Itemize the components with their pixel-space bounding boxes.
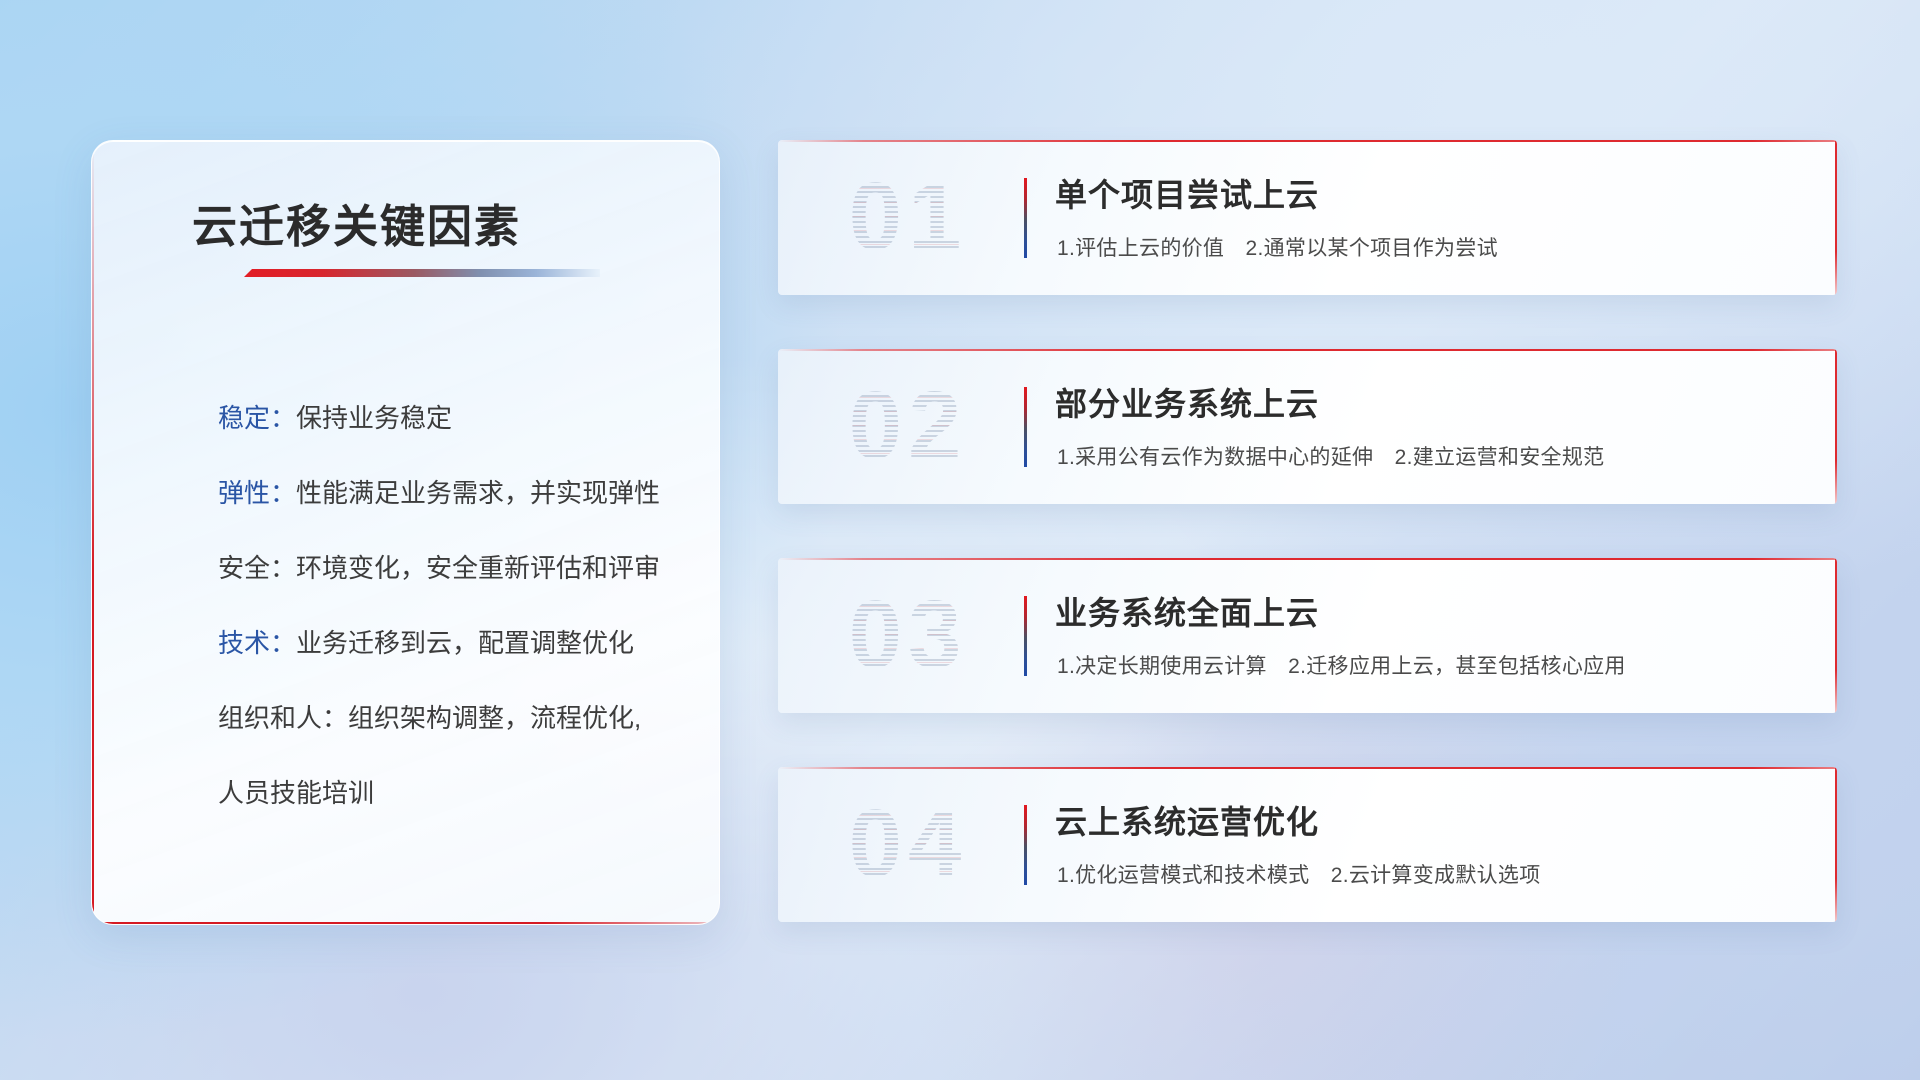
step-right-accent [1835, 349, 1837, 504]
list-item-key: 组织和人： [218, 703, 348, 733]
step-title: 云上系统运营优化 [1055, 797, 1319, 843]
step-right-accent [1835, 558, 1837, 713]
step-top-accent [778, 558, 1837, 560]
list-item-key: 安全： [218, 553, 296, 583]
list-item-value: 性能满足业务需求，并实现弹性 [296, 478, 660, 508]
step-card-02[interactable]: 02 部分业务系统上云 1.采用公有云作为数据中心的延伸 2.建立运营和安全规范 [778, 349, 1837, 504]
key-factors-card: 云迁移关键因素 稳定：保持业务稳定 弹性：性能满足业务需求，并实现弹性 安全：环… [91, 140, 720, 925]
step-card-01[interactable]: 01 单个项目尝试上云 1.评估上云的价值 2.通常以某个项目作为尝试 [778, 140, 1837, 295]
step-number-ghost: 01 [808, 146, 1008, 288]
step-divider-bar [1024, 178, 1027, 258]
list-item: 安全：环境变化，安全重新评估和评审 [218, 531, 688, 606]
step-description: 1.采用公有云作为数据中心的延伸 2.建立运营和安全规范 [1057, 441, 1604, 471]
step-number-ghost: 04 [808, 773, 1008, 915]
list-item-key: 弹性： [218, 478, 296, 508]
step-divider-bar [1024, 387, 1027, 467]
title-underline-gradient [244, 269, 600, 277]
list-item: 弹性：性能满足业务需求，并实现弹性 [218, 456, 688, 531]
list-item: 组织和人：组织架构调整，流程优化, [218, 681, 688, 756]
list-item: 人员技能培训 [218, 756, 688, 831]
list-item: 技术：业务迁移到云，配置调整优化 [218, 606, 688, 681]
step-title: 单个项目尝试上云 [1055, 170, 1319, 216]
step-top-accent [778, 349, 1837, 351]
step-divider-bar [1024, 805, 1027, 885]
list-item: 稳定：保持业务稳定 [218, 381, 688, 456]
card-bottom-accent [92, 922, 719, 924]
list-item-value: 人员技能培训 [218, 778, 374, 808]
step-description: 1.优化运营模式和技术模式 2.云计算变成默认选项 [1057, 859, 1541, 889]
step-top-accent [778, 140, 1837, 142]
step-divider-bar [1024, 596, 1027, 676]
step-right-accent [1835, 767, 1837, 922]
key-factors-list: 稳定：保持业务稳定 弹性：性能满足业务需求，并实现弹性 安全：环境变化，安全重新… [218, 381, 688, 831]
step-number-ghost: 02 [808, 355, 1008, 497]
step-title: 部分业务系统上云 [1055, 379, 1319, 425]
step-card-03[interactable]: 03 业务系统全面上云 1.决定长期使用云计算 2.迁移应用上云，甚至包括核心应… [778, 558, 1837, 713]
list-item-value: 业务迁移到云，配置调整优化 [296, 628, 634, 658]
list-item-value: 环境变化，安全重新评估和评审 [296, 553, 660, 583]
page-title: 云迁移关键因素 [192, 190, 521, 255]
list-item-value: 保持业务稳定 [296, 403, 452, 433]
list-item-key: 技术： [218, 628, 296, 658]
step-top-accent [778, 767, 1837, 769]
step-card-04[interactable]: 04 云上系统运营优化 1.优化运营模式和技术模式 2.云计算变成默认选项 [778, 767, 1837, 922]
step-description: 1.决定长期使用云计算 2.迁移应用上云，甚至包括核心应用 [1057, 650, 1626, 680]
step-title: 业务系统全面上云 [1055, 588, 1319, 634]
step-number-ghost: 03 [808, 564, 1008, 706]
step-right-accent [1835, 140, 1837, 295]
list-item-value: 组织架构调整，流程优化, [348, 703, 641, 733]
list-item-key: 稳定： [218, 403, 296, 433]
migration-steps-list: 01 单个项目尝试上云 1.评估上云的价值 2.通常以某个项目作为尝试 02 部… [778, 140, 1837, 976]
step-description: 1.评估上云的价值 2.通常以某个项目作为尝试 [1057, 232, 1498, 262]
